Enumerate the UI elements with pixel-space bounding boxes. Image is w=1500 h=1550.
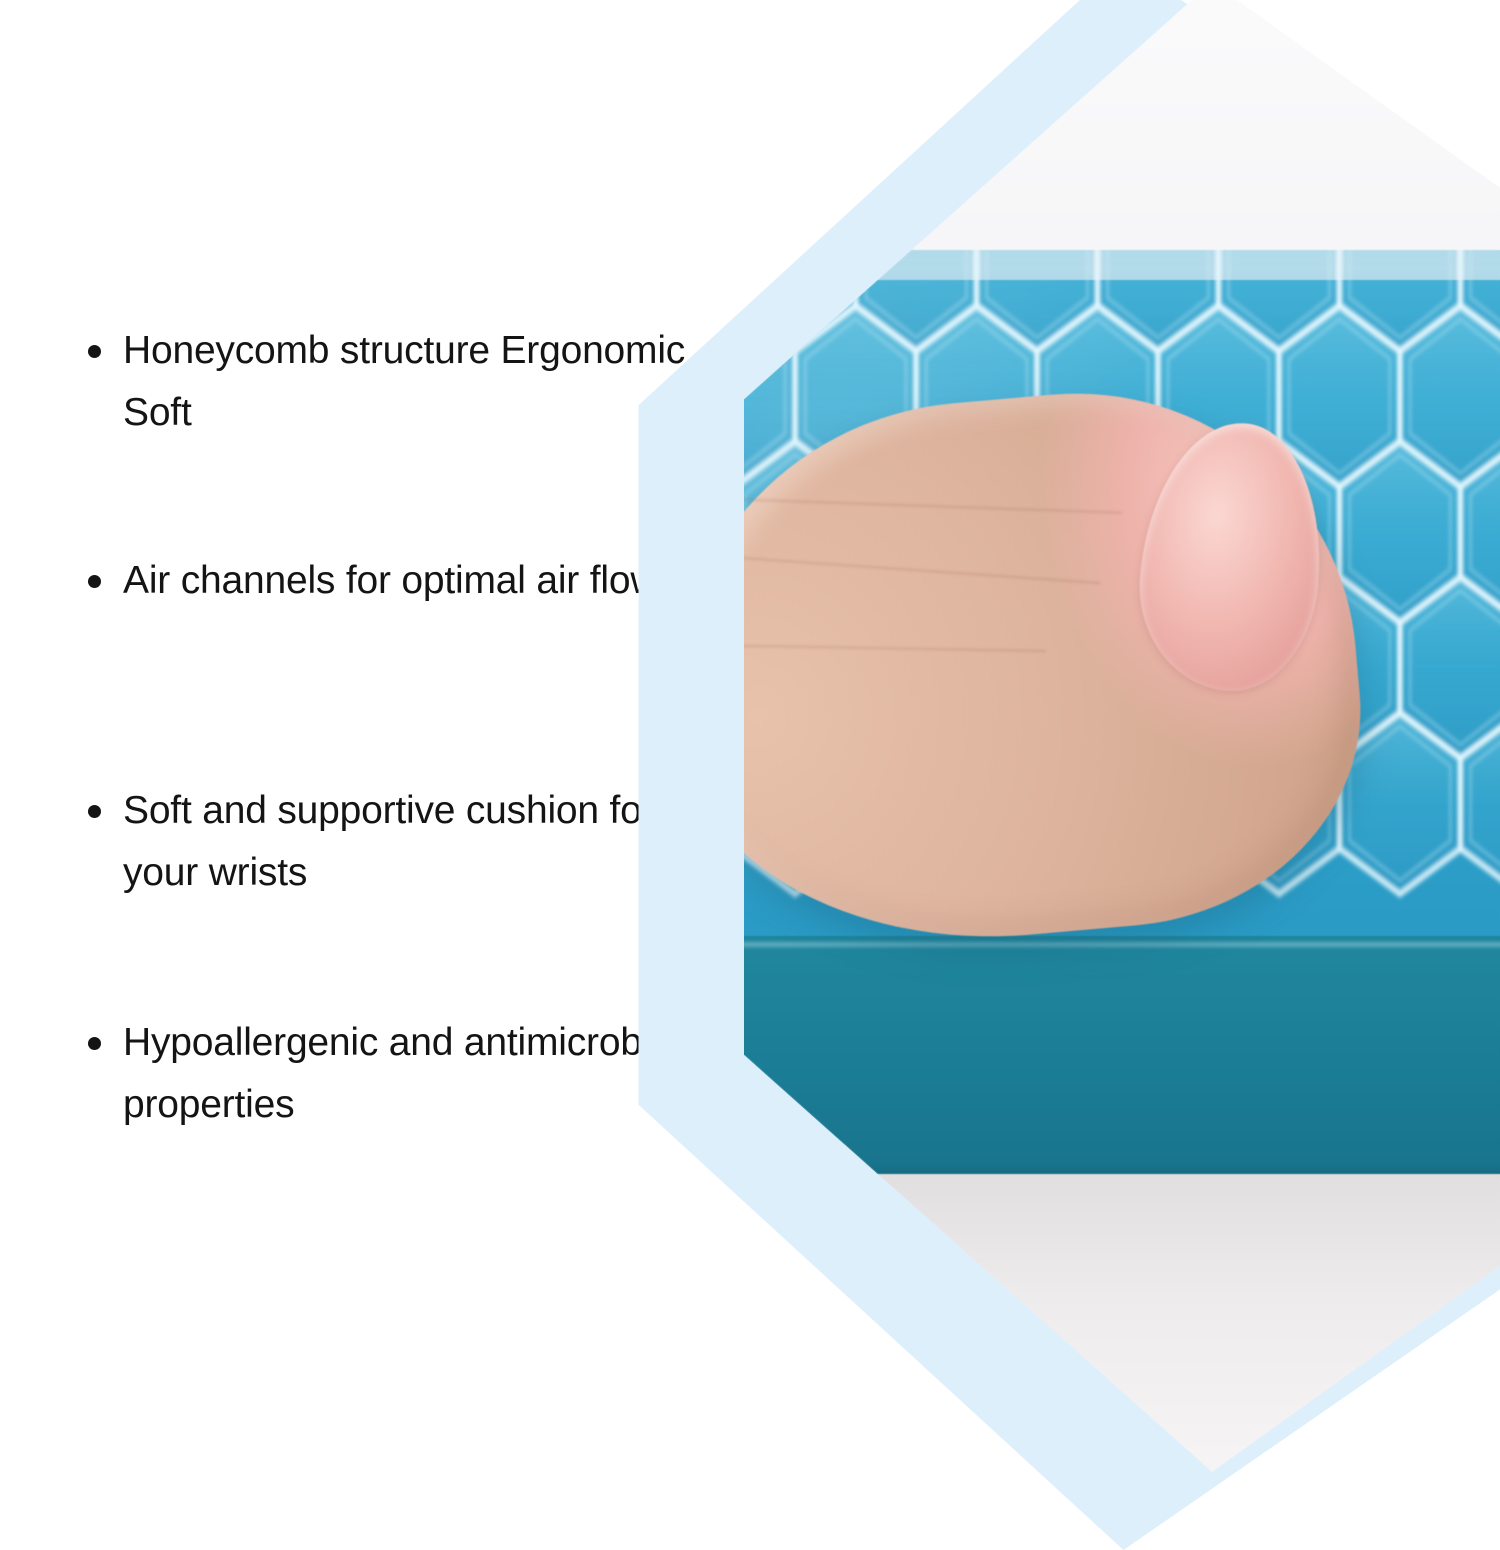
skin-crease <box>708 644 1046 652</box>
bullet-point-icon <box>88 805 101 818</box>
bullet-point-icon <box>88 345 101 358</box>
skin-crease <box>708 497 1122 514</box>
bullet-point-icon <box>88 575 101 588</box>
product-photo-panel <box>560 0 1500 1550</box>
bullet-point-icon <box>88 1037 101 1050</box>
skin-crease <box>718 555 1100 584</box>
gel-pad-base-highlight <box>708 943 1500 946</box>
